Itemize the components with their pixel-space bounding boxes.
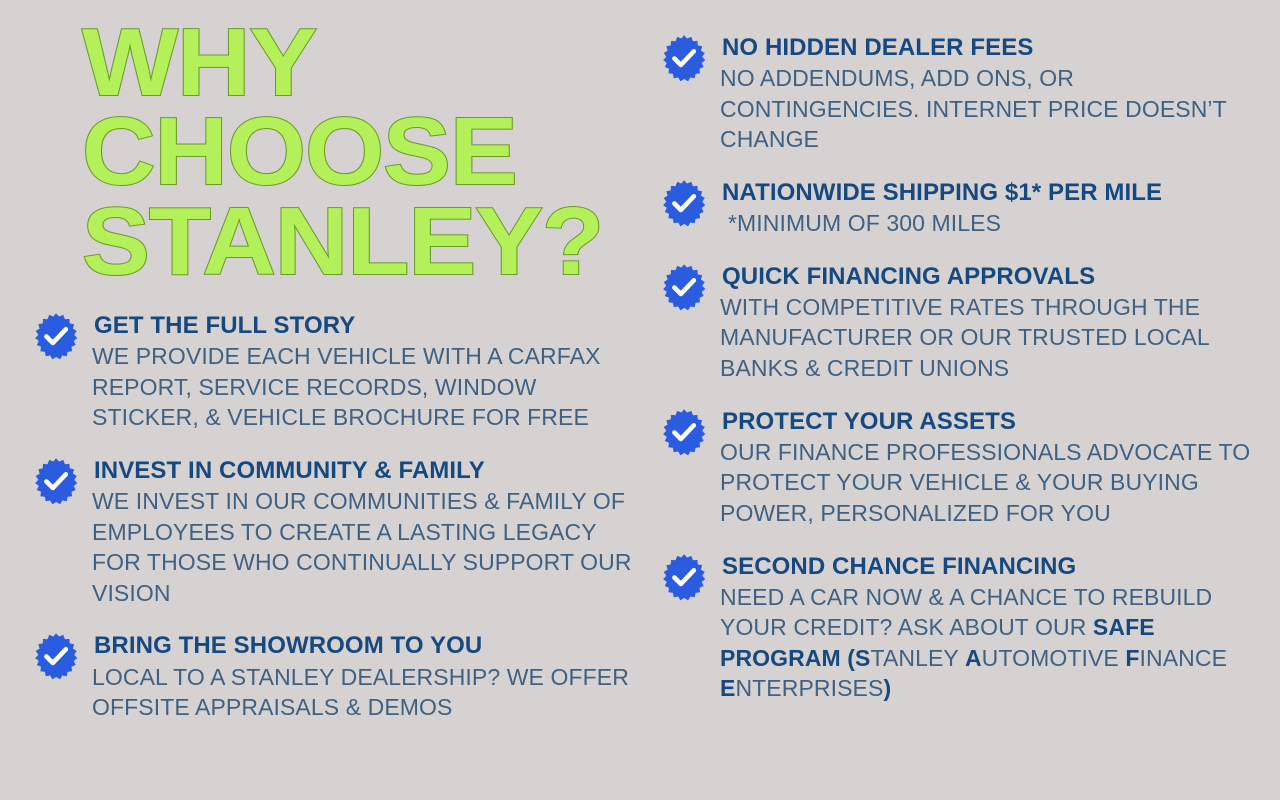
list-item-body: NO ADDENDUMS, ADD ONS, OR CONTINGENCIES.… xyxy=(720,63,1260,155)
list-item-title: BRING THE SHOWROOM TO YOU xyxy=(94,630,632,661)
verified-check-badge-icon xyxy=(660,263,708,311)
list-item-title: SECOND CHANCE FINANCING xyxy=(722,551,1260,582)
list-item-body: WE INVEST IN OUR COMMUNITIES & FAMILY OF… xyxy=(92,486,632,608)
benefits-list-left: GET THE FULL STORY WE PROVIDE EACH VEHIC… xyxy=(32,310,632,745)
verified-check-badge-icon xyxy=(32,457,80,505)
list-item: NATIONWIDE SHIPPING $1* PER MILE *MINIMU… xyxy=(660,177,1260,239)
list-item-body: LOCAL TO A STANLEY DEALERSHIP? WE OFFER … xyxy=(92,662,632,723)
list-item: NO HIDDEN DEALER FEES NO ADDENDUMS, ADD … xyxy=(660,32,1260,155)
list-item-title: NO HIDDEN DEALER FEES xyxy=(722,32,1260,63)
list-item-body: OUR FINANCE PROFESSIONALS ADVOCATE TO PR… xyxy=(720,437,1260,529)
headline-line-1: WHY xyxy=(82,18,654,107)
headline-line-3: STANLEY? xyxy=(82,197,654,286)
verified-check-badge-icon xyxy=(660,408,708,456)
list-item: INVEST IN COMMUNITY & FAMILY WE INVEST I… xyxy=(32,455,632,609)
list-item: PROTECT YOUR ASSETS OUR FINANCE PROFESSI… xyxy=(660,406,1260,529)
headline-line-2: CHOOSE xyxy=(82,107,654,196)
list-item: BRING THE SHOWROOM TO YOU LOCAL TO A STA… xyxy=(32,630,632,722)
verified-check-badge-icon xyxy=(660,34,708,82)
list-item-body-rich: NEED A CAR NOW & A CHANCE TO REBUILD YOU… xyxy=(720,582,1260,704)
verified-check-badge-icon xyxy=(660,179,708,227)
list-item-body: WE PROVIDE EACH VEHICLE WITH A CARFAX RE… xyxy=(92,341,632,433)
list-item: GET THE FULL STORY WE PROVIDE EACH VEHIC… xyxy=(32,310,632,433)
list-item-title: QUICK FINANCING APPROVALS xyxy=(722,261,1260,292)
verified-check-badge-icon xyxy=(32,312,80,360)
benefits-list-right: NO HIDDEN DEALER FEES NO ADDENDUMS, ADD … xyxy=(660,32,1260,726)
page-title: WHY CHOOSE STANLEY? xyxy=(82,18,654,286)
list-item-title: INVEST IN COMMUNITY & FAMILY xyxy=(94,455,632,486)
verified-check-badge-icon xyxy=(32,632,80,680)
list-item-title: PROTECT YOUR ASSETS xyxy=(722,406,1260,437)
list-item: SECOND CHANCE FINANCING NEED A CAR NOW &… xyxy=(660,551,1260,705)
why-choose-stanley-graphic: WHY CHOOSE STANLEY? GET THE FULL STORY W… xyxy=(0,0,1280,800)
list-item-body: *MINIMUM OF 300 MILES xyxy=(720,208,1260,239)
list-item: QUICK FINANCING APPROVALS WITH COMPETITI… xyxy=(660,261,1260,384)
list-item-title: NATIONWIDE SHIPPING $1* PER MILE xyxy=(722,177,1260,208)
list-item-title: GET THE FULL STORY xyxy=(94,310,632,341)
verified-check-badge-icon xyxy=(660,553,708,601)
list-item-body: WITH COMPETITIVE RATES THROUGH THE MANUF… xyxy=(720,292,1260,384)
